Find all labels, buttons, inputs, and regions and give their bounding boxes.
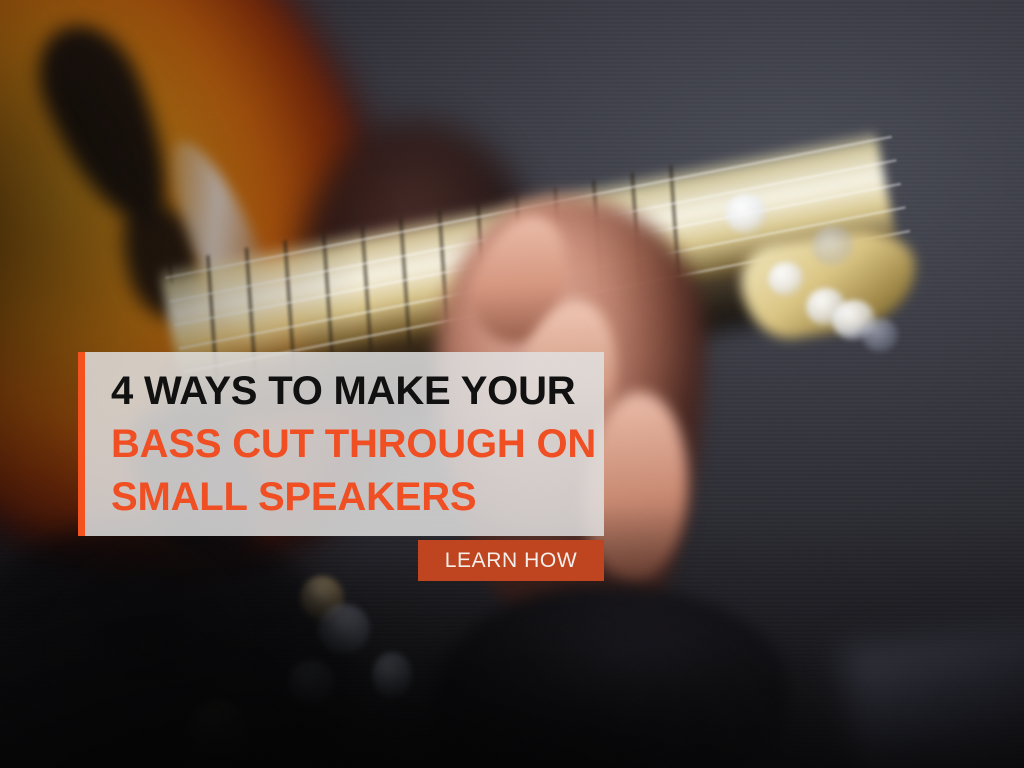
headline-line-1: 4 WAYS TO MAKE YOUR	[111, 365, 592, 418]
accent-bar	[78, 352, 85, 536]
learn-how-button[interactable]: LEARN HOW	[418, 540, 604, 581]
banner-image: 4 WAYS TO MAKE YOUR BASS CUT THROUGH ON …	[0, 0, 1024, 768]
headline-panel: 4 WAYS TO MAKE YOUR BASS CUT THROUGH ON …	[78, 352, 604, 536]
headline-text-block: 4 WAYS TO MAKE YOUR BASS CUT THROUGH ON …	[78, 365, 604, 524]
headline-line-2: BASS CUT THROUGH ON	[111, 418, 592, 471]
headline-line-3: SMALL SPEAKERS	[111, 471, 592, 524]
